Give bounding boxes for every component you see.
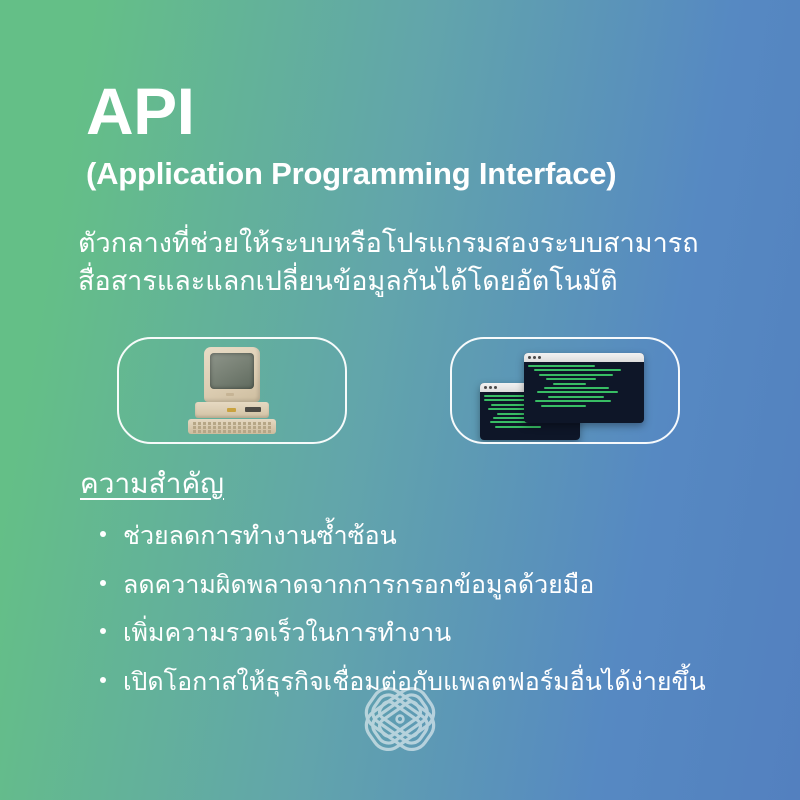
code-line	[534, 369, 621, 371]
terminal-code-body	[524, 362, 644, 423]
code-line	[546, 378, 596, 380]
page-subtitle: (Application Programming Interface)	[86, 156, 736, 192]
terminal-title-bar	[524, 353, 644, 362]
floppy-drive-slot	[245, 407, 261, 412]
window-minimize-icon	[489, 386, 492, 389]
description-line-2: สื่อสารและแลกเปลี่ยนข้อมูลกันได้โดยอัตโน…	[78, 262, 738, 300]
keyboard-row	[193, 426, 271, 429]
code-line	[495, 426, 541, 428]
api-infographic-poster: API (Application Programming Interface) …	[0, 0, 800, 800]
description-line-1: ตัวกลางที่ช่วยให้ระบบหรือโปรแกรมสองระบบส…	[78, 224, 738, 262]
terminal-windows-icon	[452, 339, 678, 442]
code-line	[541, 405, 586, 407]
terminal-windows-card	[450, 337, 680, 444]
crt-screen	[210, 353, 254, 389]
code-line	[539, 374, 613, 376]
bullet-dot-icon	[100, 531, 106, 537]
illustration-cards	[0, 337, 800, 447]
benefits-heading: ความสำคัญ	[80, 462, 224, 506]
code-line	[537, 391, 618, 393]
code-line	[535, 400, 611, 402]
page-title: API	[86, 78, 736, 144]
window-close-icon	[484, 386, 487, 389]
brand-logo-icon	[352, 680, 448, 758]
window-maximize-icon	[538, 356, 541, 359]
window-close-icon	[528, 356, 531, 359]
list-item-label: ลดความผิดพลาดจากการกรอกข้อมูลด้วยมือ	[123, 567, 594, 605]
keyboard	[188, 419, 276, 434]
retro-computer-icon	[186, 347, 278, 435]
cpu-led-icon	[227, 408, 236, 412]
code-line	[544, 387, 609, 389]
code-line	[548, 396, 604, 398]
cpu-case	[195, 402, 269, 418]
keyboard-row	[193, 430, 271, 433]
retro-computer-card	[117, 337, 347, 444]
list-item-label: เพิ่มความรวดเร็วในการทำงาน	[123, 615, 451, 653]
description-text: ตัวกลางที่ช่วยให้ระบบหรือโปรแกรมสองระบบส…	[78, 224, 738, 301]
list-item: ลดความผิดพลาดจากการกรอกข้อมูลด้วยมือ	[100, 567, 750, 605]
bullet-dot-icon	[100, 628, 106, 634]
crt-badge	[226, 393, 234, 396]
keyboard-row	[193, 422, 271, 425]
list-item-label: ช่วยลดการทำงานซ้ำซ้อน	[123, 518, 397, 556]
window-maximize-icon	[494, 386, 497, 389]
bullet-dot-icon	[100, 580, 106, 586]
bullet-dot-icon	[100, 677, 106, 683]
code-line	[553, 383, 587, 385]
window-minimize-icon	[533, 356, 536, 359]
code-line	[528, 365, 595, 367]
terminal-window-front	[524, 353, 644, 423]
list-item: เพิ่มความรวดเร็วในการทำงาน	[100, 615, 750, 653]
title-block: API (Application Programming Interface)	[86, 78, 736, 192]
list-item: ช่วยลดการทำงานซ้ำซ้อน	[100, 518, 750, 556]
